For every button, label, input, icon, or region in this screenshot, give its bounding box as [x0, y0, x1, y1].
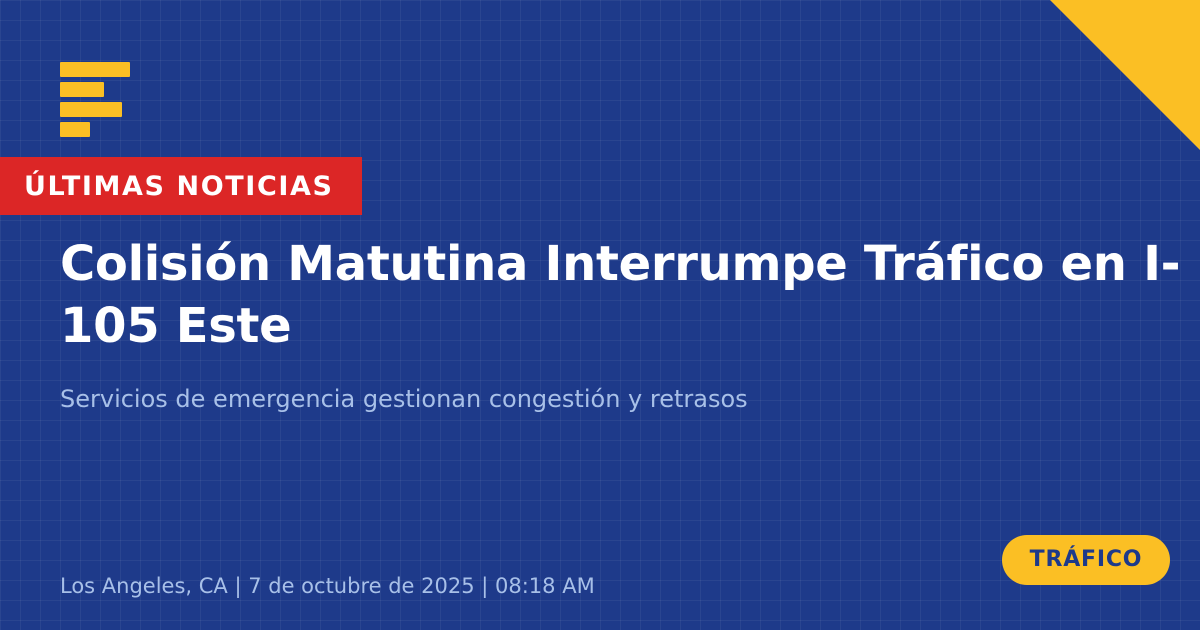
category-label: TRÁFICO: [1030, 549, 1143, 571]
logo-bar-3: [60, 102, 122, 117]
logo-bar-1: [60, 62, 130, 77]
subtitle: Servicios de emergencia gestionan conges…: [60, 383, 1060, 415]
breaking-news-badge: ÚLTIMAS NOTICIAS: [0, 157, 362, 215]
logo-bar-2: [60, 82, 104, 97]
article-meta: Los Angeles, CA | 7 de octubre de 2025 |…: [60, 576, 595, 597]
headline: Colisión Matutina Interrumpe Tráfico en …: [60, 233, 1200, 358]
top-right-yellow-triangle-icon: [1050, 0, 1200, 150]
logo-bar-4: [60, 122, 90, 137]
category-badge: TRÁFICO: [1002, 535, 1170, 585]
breaking-news-label: ÚLTIMAS NOTICIAS: [24, 173, 334, 200]
stacked-bars-logo: [60, 62, 130, 137]
breaking-news-card: ÚLTIMAS NOTICIAS Colisión Matutina Inter…: [0, 0, 1200, 630]
